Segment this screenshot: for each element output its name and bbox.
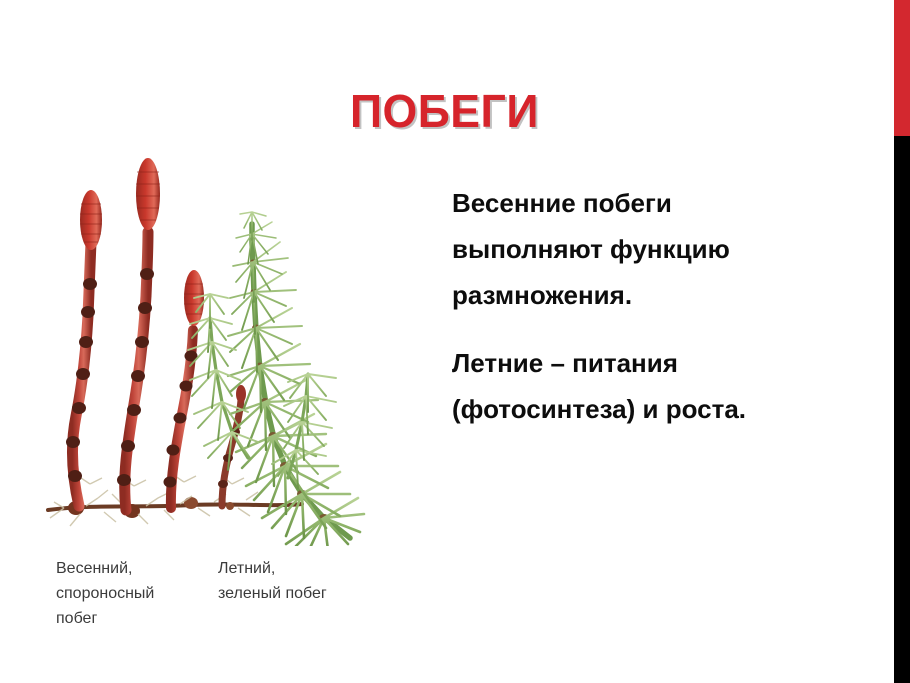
page-title: ПОБЕГИ xyxy=(350,86,539,136)
caption-spring-line-1: Весенний, xyxy=(56,556,196,581)
caption-summer-line-1: Летний, xyxy=(218,556,388,581)
figure-captions: Весенний, спороносный побег Летний, зеле… xyxy=(56,556,386,646)
body-text-block: Весенние побеги выполняют функцию размно… xyxy=(452,180,782,432)
summer-green-shoot xyxy=(188,212,364,546)
spore-cone-strobilus xyxy=(136,158,160,230)
caption-spring-line-3: побег xyxy=(56,606,196,631)
edge-bar-red-segment xyxy=(894,0,910,136)
spring-spore-bearing-shoot xyxy=(48,158,302,526)
spore-cone-bud xyxy=(236,385,246,403)
spore-cone-strobilus xyxy=(80,190,102,250)
right-edge-decoration xyxy=(894,0,910,683)
rhizome-bud xyxy=(226,502,234,510)
caption-spring-line-2: спороносный xyxy=(56,581,196,606)
edge-bar-black-segment xyxy=(894,136,910,683)
spring-stem-2 xyxy=(117,158,160,510)
spring-stem-1 xyxy=(66,190,102,506)
caption-spring-shoot: Весенний, спороносный побег xyxy=(56,556,196,631)
paragraph-spring-shoots: Весенние побеги выполняют функцию размно… xyxy=(452,180,782,318)
horsetail-illustration xyxy=(34,146,374,546)
caption-summer-line-2: зеленый побег xyxy=(218,581,388,606)
caption-summer-shoot: Летний, зеленый побег xyxy=(218,556,388,606)
rhizome-tuber xyxy=(184,497,198,509)
horsetail-illustration-svg xyxy=(34,146,374,546)
paragraph-summer-shoots: Летние – питания (фотосинтеза) и роста. xyxy=(452,340,782,432)
